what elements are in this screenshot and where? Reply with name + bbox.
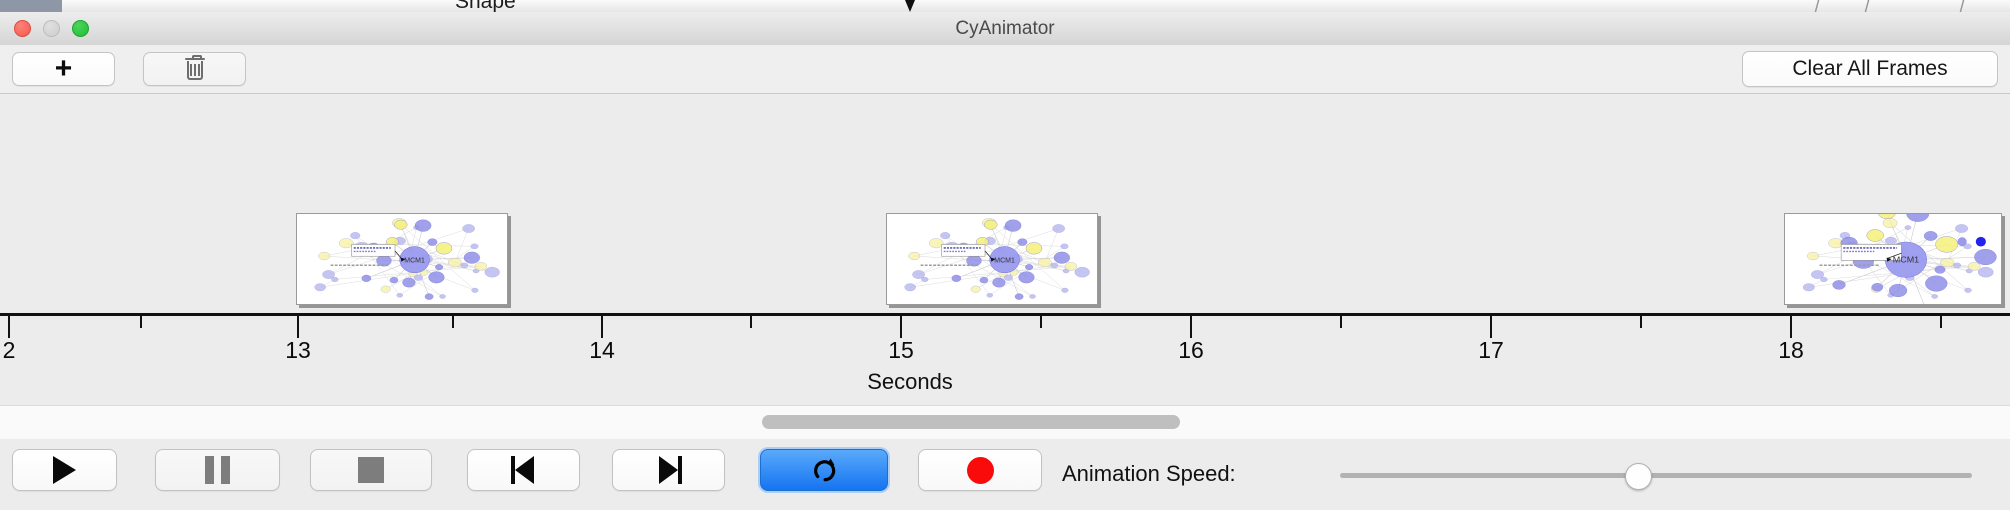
toolbar: + Clear All Frames (0, 45, 2010, 94)
slider-track[interactable] (1340, 473, 1972, 478)
animation-speed-label: Animation Speed: (1062, 461, 1236, 487)
background-seg (232, 0, 291, 12)
skip-back-button[interactable] (467, 449, 580, 491)
clear-all-frames-label: Clear All Frames (1792, 57, 1947, 81)
ruler-tick-minor (452, 316, 454, 328)
ruler-tick-label: 15 (888, 337, 914, 364)
clear-all-frames-button[interactable]: Clear All Frames (1742, 51, 1998, 87)
cyanimator-window: Shape CyAnimator + Clear All Frames MCM1… (0, 0, 2010, 510)
axis-title: Seconds (0, 369, 2010, 395)
ruler-tick-major (1190, 316, 1192, 338)
ruler-tick-major (8, 316, 10, 338)
ruler-tick-label: 14 (589, 337, 615, 364)
background-seg (62, 0, 173, 12)
background-slant (1860, 0, 1874, 12)
timeline-track[interactable]: MCM1 MCM1 MCM1 (0, 94, 2010, 319)
add-frame-button[interactable]: + (12, 52, 115, 86)
ruler-tick-label: 16 (1178, 337, 1204, 364)
keyframe-thumbnail[interactable]: MCM1 (1784, 213, 2002, 305)
scrollbar-track[interactable] (0, 412, 2010, 432)
background-slant (1810, 0, 1824, 12)
ruler-tick-major (297, 316, 299, 338)
record-button[interactable] (918, 449, 1042, 491)
background-slant (1955, 0, 1969, 12)
animation-speed-slider[interactable] (1340, 439, 1972, 510)
pause-icon (205, 456, 230, 484)
play-icon (53, 456, 76, 484)
title-bar: CyAnimator (0, 12, 2010, 46)
scrollbar-thumb[interactable] (762, 415, 1180, 429)
keyframe-thumbnail[interactable]: MCM1 (886, 213, 1098, 305)
ruler-tick-label: 2 (3, 337, 16, 364)
ruler-tick-label: 18 (1778, 337, 1804, 364)
background-seg (290, 0, 396, 12)
ruler-axis-line (0, 313, 2010, 316)
window-title: CyAnimator (0, 12, 2010, 45)
ruler-tick-major (601, 316, 603, 338)
skip-forward-button[interactable] (612, 449, 725, 491)
ruler-tick-minor (1040, 316, 1042, 328)
ruler-tick-minor (1940, 316, 1942, 328)
pause-button (155, 449, 280, 491)
ruler-tick-major (1490, 316, 1492, 338)
stop-button (310, 449, 432, 491)
plus-icon: + (55, 54, 73, 84)
background-seg (885, 0, 946, 12)
timeline-scrollbar[interactable] (0, 405, 2010, 440)
trash-icon (185, 57, 205, 81)
ruler-tick-label: 17 (1478, 337, 1504, 364)
ruler-tick-major (1790, 316, 1792, 338)
skip-back-icon (511, 456, 537, 484)
slider-knob[interactable] (1625, 463, 1652, 490)
stop-icon (358, 457, 384, 483)
delete-frame-button[interactable] (143, 52, 246, 86)
svg-text:MCM1: MCM1 (404, 257, 425, 264)
loop-button[interactable] (760, 449, 888, 491)
svg-text:MCM1: MCM1 (1893, 255, 1920, 265)
background-window-dark-block (0, 0, 62, 12)
timeline-ruler: 2131415161718 (0, 313, 2010, 375)
skip-forward-icon (656, 456, 682, 484)
ruler-tick-minor (750, 316, 752, 328)
ruler-tick-minor (1340, 316, 1342, 328)
ruler-tick-minor (1640, 316, 1642, 328)
play-button[interactable] (12, 449, 117, 491)
ruler-tick-major (900, 316, 902, 338)
playback-controls: Animation Speed: (0, 439, 2010, 510)
record-icon (967, 457, 994, 484)
background-seg (172, 0, 233, 12)
ruler-tick-label: 13 (285, 337, 311, 364)
ruler-tick-minor (140, 316, 142, 328)
background-window-label: Shape (455, 0, 516, 12)
loop-icon (809, 455, 839, 485)
svg-text:MCM1: MCM1 (994, 257, 1015, 264)
keyframe-thumbnail[interactable]: MCM1 (296, 213, 508, 305)
background-seg (945, 0, 2010, 12)
background-window-strip: Shape (0, 0, 2010, 12)
